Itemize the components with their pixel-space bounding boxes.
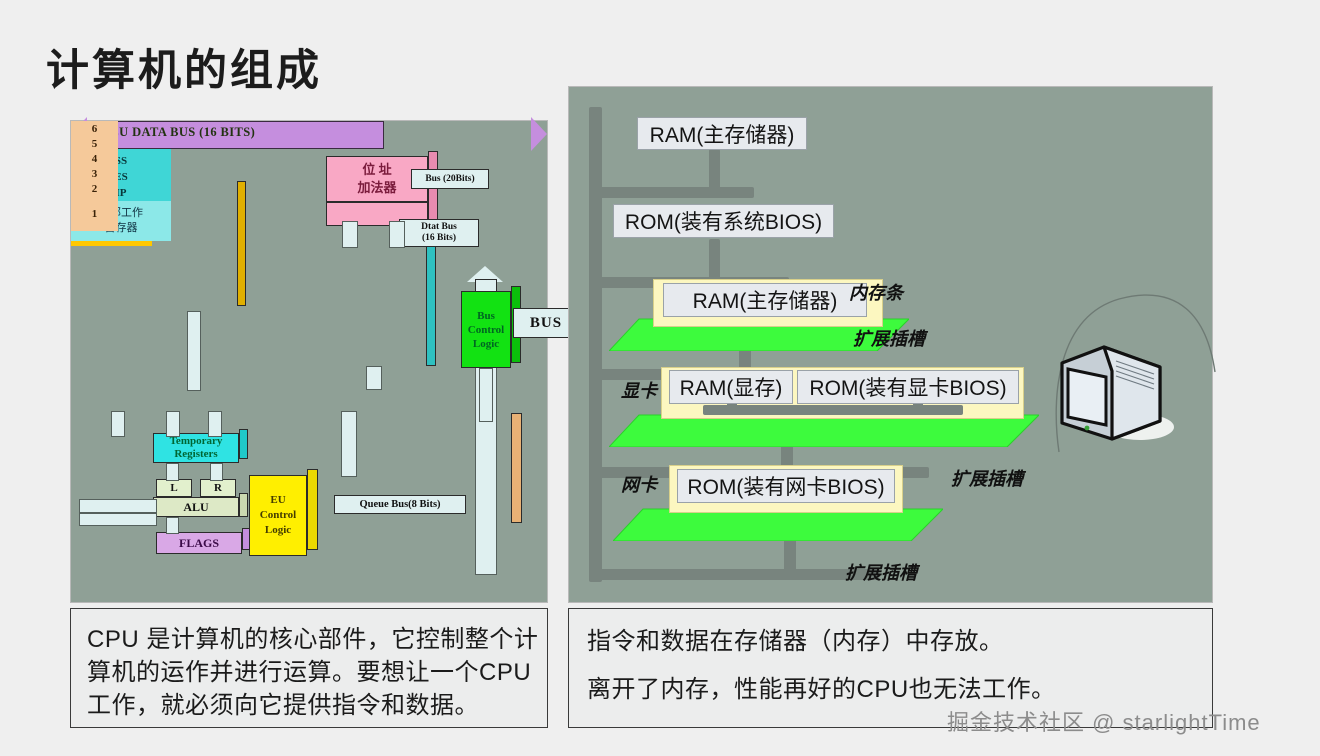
queue-slot-number: 3 bbox=[92, 168, 98, 180]
temporary-registers-block: Temporary Registers bbox=[153, 433, 239, 463]
bus-control-line1: Bus bbox=[477, 309, 495, 323]
memory-item-rom-gpu-bios: ROM(装有显卡BIOS) bbox=[797, 370, 1019, 404]
annotation-graphics-card: 显卡 bbox=[621, 377, 657, 403]
watermark: 掘金技术社区 @ starlightTime bbox=[947, 705, 1261, 737]
queue-slot: 4 bbox=[71, 151, 118, 167]
slide-canvas: 计算机的组成 AHAL BHBL CHCL DHDL SP BP SI DI 位… bbox=[0, 0, 1320, 756]
connector-regfile-to-segs bbox=[366, 366, 382, 390]
connector-alu-in-left2 bbox=[79, 513, 157, 526]
cpu-caption-line3: 工作，就必须向它提供指令和数据。 bbox=[87, 689, 531, 722]
crt-monitor-icon bbox=[1054, 335, 1184, 445]
connector-segs-to-adder-a bbox=[342, 221, 358, 248]
temporary-registers-side-face bbox=[239, 429, 248, 459]
connector-tmpreg-to-r bbox=[210, 463, 223, 481]
queue-slot: 6 bbox=[71, 121, 118, 137]
annotation-expansion-slot-2: 扩展插槽 bbox=[951, 465, 1023, 491]
eu-control-logic-block: EU Control Logic bbox=[249, 475, 307, 556]
segment-register-block: CS DS SS ES IP 内部工作 暂存器 bbox=[71, 246, 171, 366]
data-bus-line1: Dtat Bus bbox=[421, 222, 457, 233]
eu-control-line2: Control bbox=[260, 508, 296, 523]
cpu-caption-box: CPU 是计算机的核心部件，它控制整个计 算机的运作并进行运算。要想让一个CPU… bbox=[70, 608, 548, 728]
alu-data-bus: ALU DATA BUS (16 BITS) bbox=[71, 366, 396, 392]
queue-slot: 5 bbox=[71, 136, 118, 152]
memory-item-rom-system-bios: ROM(装有系统BIOS) bbox=[613, 204, 834, 238]
temp-reg-line2: Registers bbox=[174, 448, 217, 461]
queue-slot-number: 6 bbox=[92, 123, 98, 135]
connector-alubus-to-tmpreg-a bbox=[111, 411, 125, 437]
cpu-caption-line2: 算机的运作并进行运算。要想让一个CPU bbox=[87, 656, 531, 689]
queue-bus-label: Queue Bus(8 Bits) bbox=[334, 495, 466, 514]
address-adder-line2: 加法器 bbox=[357, 179, 396, 197]
queue-slot-number: 4 bbox=[92, 153, 98, 165]
alu-right-operand-box: R bbox=[200, 479, 236, 497]
address-adder-line1: 位 址 bbox=[362, 161, 391, 179]
annotation-network-card: 网卡 bbox=[621, 471, 657, 497]
memory-caption-line1: 指令和数据在存储器（内存）中存放。 bbox=[587, 627, 1196, 657]
memory-item-ram-vram: RAM(显存) bbox=[669, 370, 793, 404]
register-file-side-face bbox=[237, 181, 246, 306]
connector-tmpreg-to-l bbox=[166, 463, 179, 481]
main-bus-vertical bbox=[589, 107, 602, 582]
connector-alubus-to-eucl bbox=[341, 411, 357, 477]
cpu-caption-line1: CPU 是计算机的核心部件，它控制整个计 bbox=[87, 623, 531, 656]
memory-item-rom-nic-bios: ROM(装有网卡BIOS) bbox=[677, 469, 895, 503]
data-bus-line2: (16 Bits) bbox=[422, 233, 456, 244]
alu-data-bus-label: ALU DATA BUS (16 BITS) bbox=[101, 125, 255, 140]
bus-control-line2: Control bbox=[468, 323, 504, 337]
eu-control-logic-side-face bbox=[307, 469, 318, 550]
bus-stub-1 bbox=[709, 149, 720, 195]
queue-slot-number: 2 bbox=[92, 183, 98, 195]
segment-register-side-face bbox=[426, 241, 436, 366]
annotation-memory-stick: 内存条 bbox=[849, 279, 903, 305]
memory-caption-line2: 离开了内存，性能再好的CPU也无法工作。 bbox=[587, 675, 1196, 705]
connector-alu-in-left bbox=[79, 499, 157, 513]
queue-slot: 2 bbox=[71, 181, 118, 197]
flags-block: FLAGS bbox=[156, 532, 242, 554]
memory-diagram-panel: RAM(主存储器) ROM(装有系统BIOS) RAM(主存储器) 内存条 扩展… bbox=[568, 86, 1213, 603]
bus-control-logic-block: Bus Control Logic bbox=[461, 291, 511, 368]
connector-regfile-to-alubus bbox=[187, 311, 201, 391]
instruction-queue: 6 5 4 3 2 1 bbox=[71, 392, 118, 502]
instruction-queue-side-face bbox=[511, 413, 522, 523]
queue-slot: 1 bbox=[71, 196, 118, 231]
connector-alubus-to-tmpreg-b bbox=[166, 411, 180, 437]
data-bus-label: Dtat Bus (16 Bits) bbox=[399, 219, 479, 247]
connector-alubus-to-tmpreg-c bbox=[208, 411, 222, 437]
eu-control-line3: Logic bbox=[265, 523, 291, 538]
cpu-diagram-panel: AHAL BHBL CHCL DHDL SP BP SI DI 位 址 加法器 … bbox=[70, 120, 548, 603]
page-title: 计算机的组成 bbox=[46, 36, 322, 98]
connector-alu-to-flags bbox=[166, 517, 179, 534]
queue-slot: 3 bbox=[71, 166, 118, 182]
alu-left-operand-box: L bbox=[156, 479, 192, 497]
bus-control-line3: Logic bbox=[473, 337, 499, 351]
alu-block: ALU bbox=[153, 497, 239, 517]
queue-slot-number: 1 bbox=[92, 208, 98, 220]
queue-slot-number: 5 bbox=[92, 138, 98, 150]
annotation-expansion-slot-3: 扩展插槽 bbox=[845, 559, 917, 585]
bus-branch-5 bbox=[589, 569, 879, 580]
memory-item-ram-main: RAM(主存储器) bbox=[637, 117, 807, 150]
bus-branch-1 bbox=[589, 187, 754, 198]
annotation-expansion-slot-1: 扩展插槽 bbox=[853, 325, 925, 351]
connector-bcl-to-queue bbox=[479, 368, 493, 422]
graphics-card-internal-bus bbox=[703, 405, 963, 415]
eu-control-line1: EU bbox=[270, 493, 285, 508]
address-bus-label: Bus (20Bits) bbox=[411, 169, 489, 189]
memory-item-ram-stick: RAM(主存储器) bbox=[663, 283, 867, 317]
alu-side-face bbox=[239, 493, 248, 517]
alu-bus-right-arrow bbox=[531, 117, 547, 151]
connector-segs-to-adder-b bbox=[389, 221, 405, 248]
